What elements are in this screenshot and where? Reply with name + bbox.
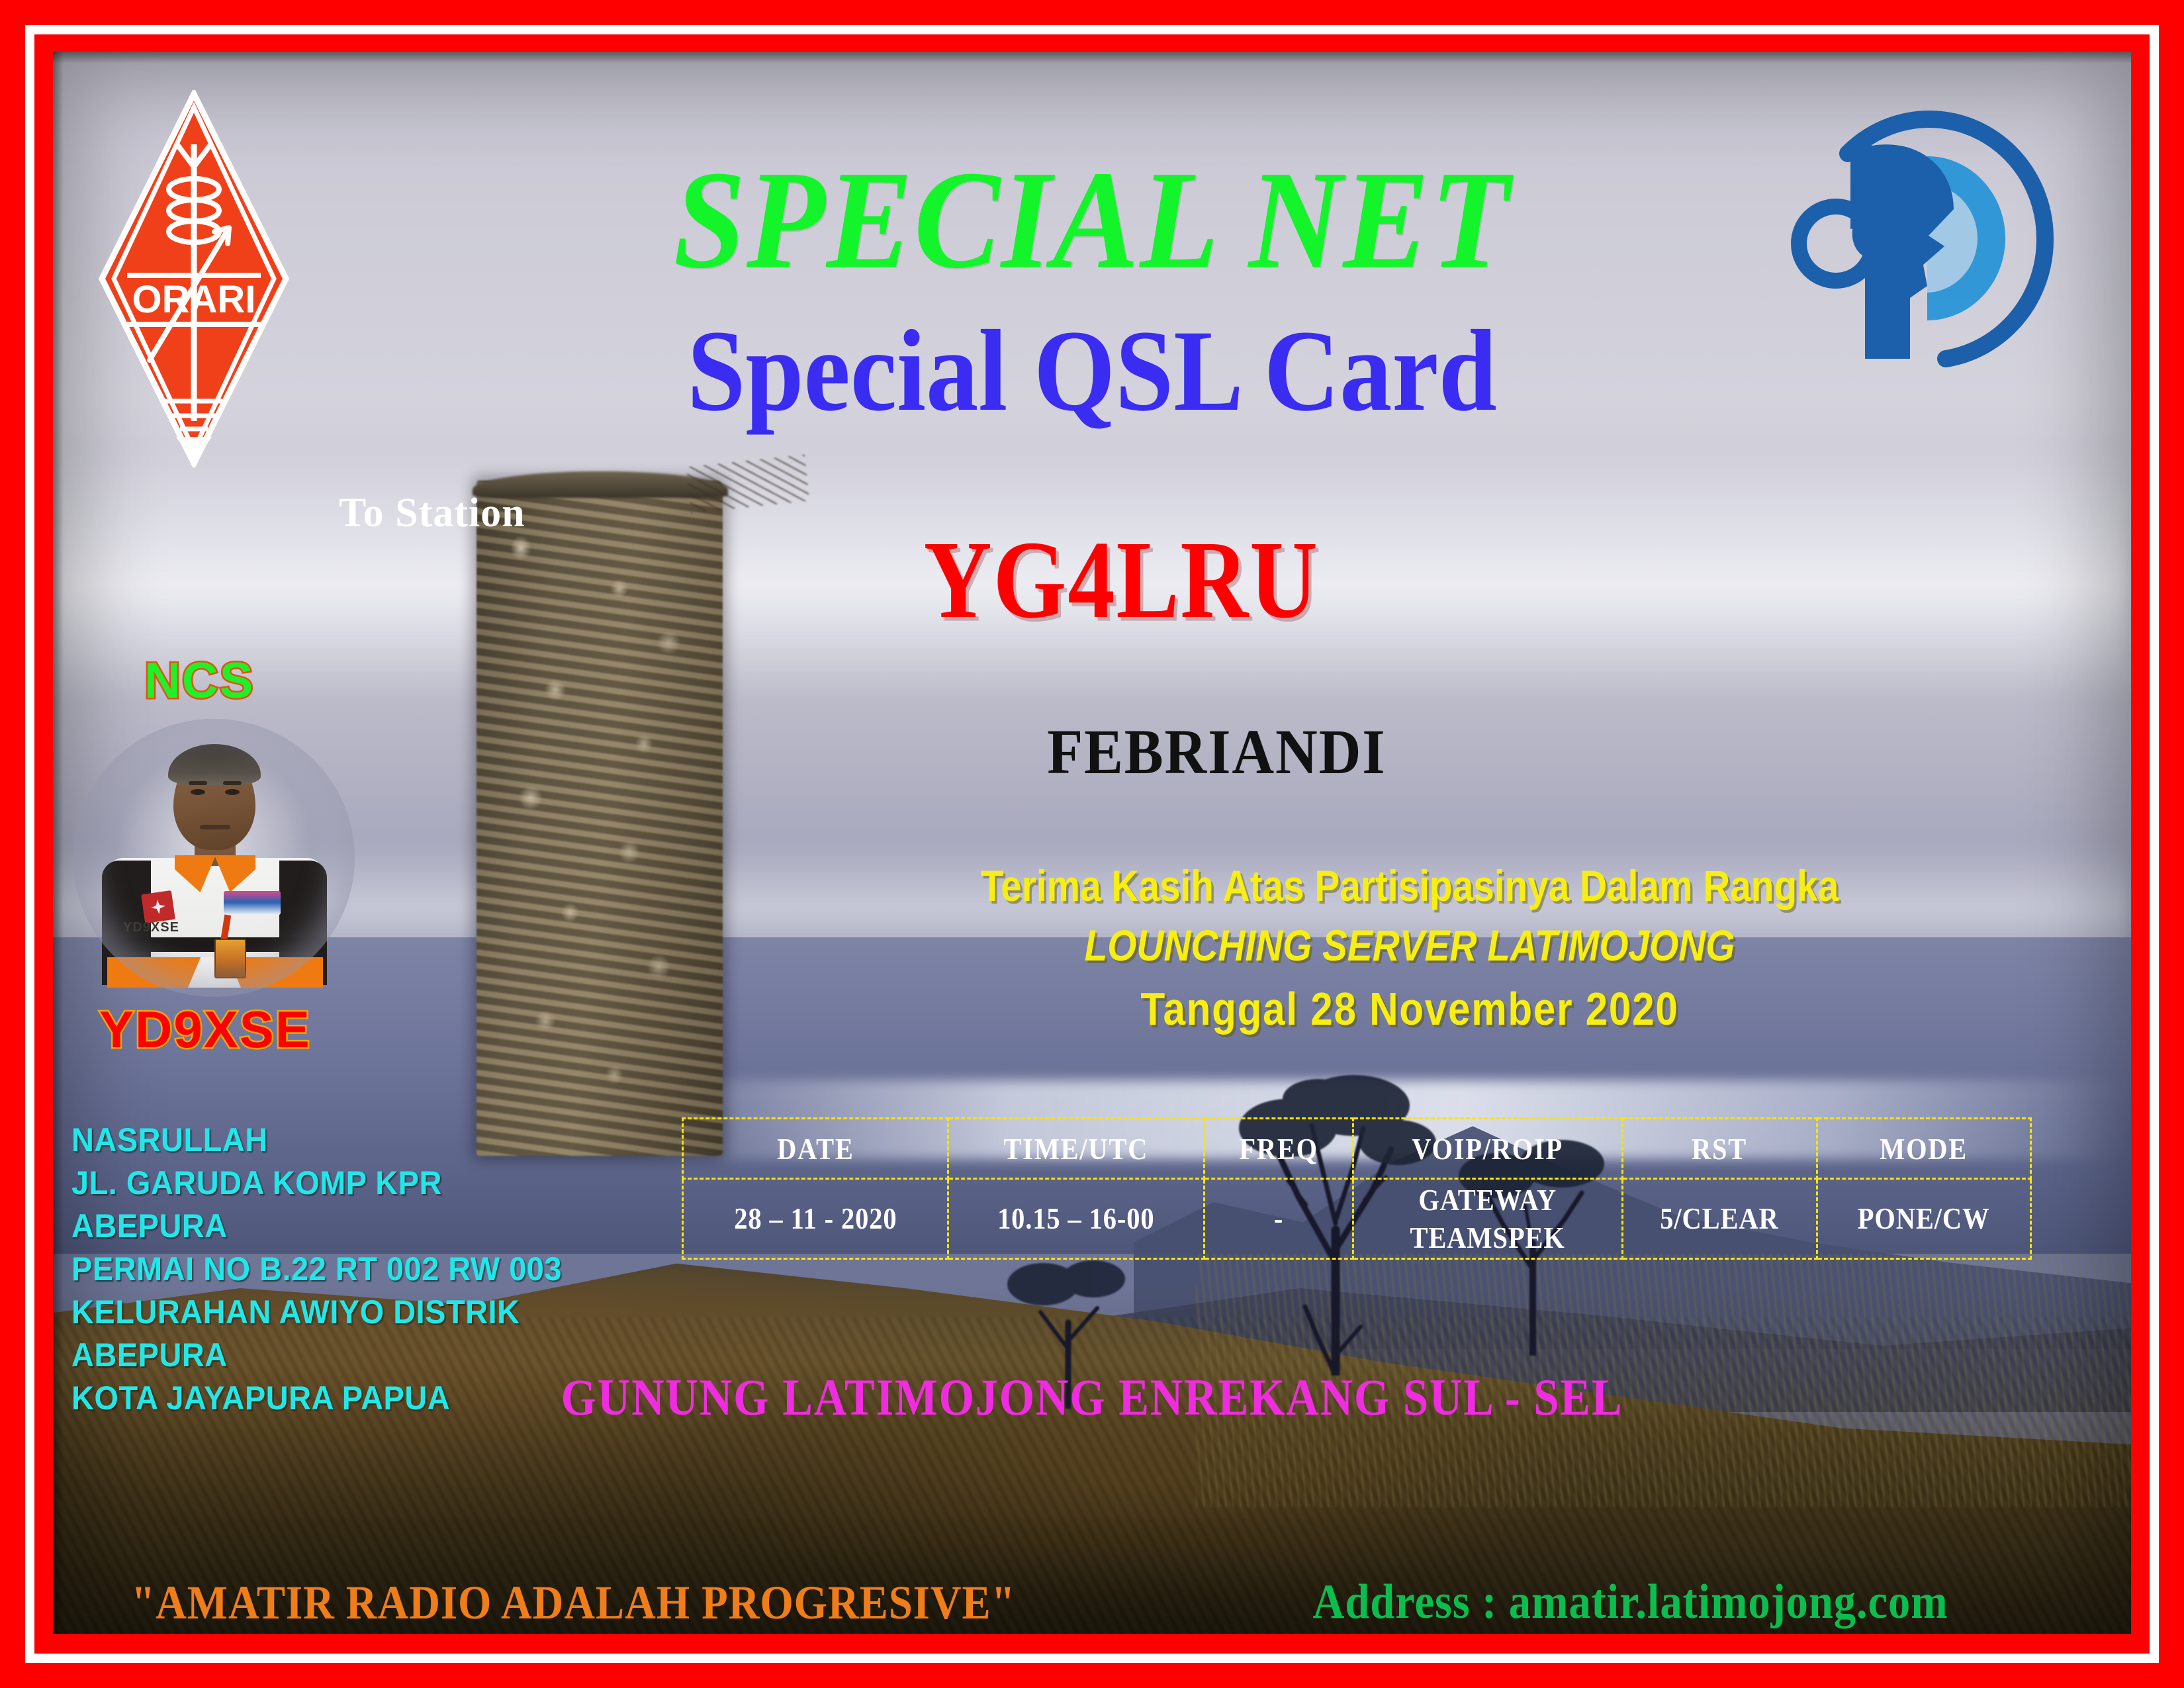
table-cell-voip-roip-line1: GATEWAY <box>1371 1181 1605 1219</box>
address-line: JL. GARUDA KOMP KPR <box>71 1162 562 1205</box>
portrait-badge-right <box>224 891 281 915</box>
ncs-label: NCS <box>144 652 254 710</box>
page-title-special-net: SPECIAL NET <box>87 139 2097 301</box>
address-line: NASRULLAH <box>71 1119 562 1162</box>
page-subtitle-qsl-card: Special QSL Card <box>109 305 2075 438</box>
table-header-rst: RST <box>1634 1119 1805 1179</box>
table-header-mode: MODE <box>1830 1119 2018 1179</box>
table-cell-mode: PONE/CW <box>1830 1179 2018 1259</box>
portrait-eye-right <box>225 789 240 795</box>
table-cell-rst: 5/CLEAR <box>1634 1179 1805 1259</box>
footer-web-address: Address : amatir.latimojong.com <box>1312 1574 1948 1630</box>
table-header-time: TIME/UTC <box>964 1119 1189 1179</box>
portrait-badge-left <box>141 890 175 923</box>
table-header-voip-roip: VOIP/ROIP <box>1369 1119 1606 1179</box>
address-line: PERMAI NO B.22 RT 002 RW 003 <box>71 1248 562 1291</box>
operator-name: FEBRIANDI <box>1047 715 1386 788</box>
table-cell-date: 28 – 11 - 2020 <box>699 1179 933 1259</box>
thanks-block: Terima Kasih Atas Partisipasinya Dalam R… <box>781 861 2038 1035</box>
table-cell-time: 10.15 – 16-00 <box>964 1179 1189 1259</box>
portrait-shirt-callsign: YD9XSE <box>123 920 179 935</box>
photo-top-shadow <box>53 52 2131 64</box>
portrait-eyebrow-left <box>189 781 207 785</box>
ncs-callsign: YD9XSE <box>99 1000 311 1060</box>
table-cell-voip-roip-line2: TEAMSPEK <box>1371 1219 1605 1257</box>
table-cell-voip-roip: GATEWAY TEAMSPEK <box>1369 1179 1606 1259</box>
recipient-callsign: YG4LRU <box>924 516 1319 644</box>
portrait-eyebrow-right <box>223 781 242 785</box>
address-line: KOTA JAYAPURA PAPUA <box>71 1377 562 1420</box>
address-line: ABEPURA <box>71 1334 562 1377</box>
table-cell-freq: - <box>1213 1179 1343 1259</box>
thanks-line-2: LOUNCHING SERVER LATIMOJONG <box>869 920 1950 970</box>
thanks-line-1: Terima Kasih Atas Partisipasinya Dalam R… <box>869 861 1950 911</box>
portrait-eye-left <box>191 789 205 795</box>
thanks-line-3: Tanggal 28 November 2020 <box>869 982 1950 1035</box>
photo-left-shadow <box>53 52 64 1634</box>
ncs-operator-photo: YD9XSE <box>82 728 345 988</box>
table-header-freq: FREQ <box>1213 1119 1343 1179</box>
portrait-id-card <box>214 939 246 978</box>
table-header-row: DATE TIME/UTC FREQ VOIP/ROIP RST MODE <box>683 1119 2031 1179</box>
table-row: 28 – 11 - 2020 10.15 – 16-00 - GATEWAY T… <box>683 1179 2031 1259</box>
footer-motto: "AMATIR RADIO ADALAH PROGRESIVE" <box>131 1575 1015 1630</box>
address-line: ABEPURA <box>71 1205 562 1248</box>
qsl-card: ORARI SPECIAL NET Special QSL Card To St… <box>0 0 2184 1688</box>
station-address-block: NASRULLAH JL. GARUDA KOMP KPR ABEPURA PE… <box>71 1119 562 1420</box>
portrait-mouth <box>200 825 230 829</box>
to-station-label: To Station <box>339 490 525 537</box>
table-header-date: DATE <box>699 1119 933 1179</box>
address-line: KELURAHAN AWIYO DISTRIK <box>71 1291 562 1334</box>
qso-log-table: DATE TIME/UTC FREQ VOIP/ROIP RST MODE 28… <box>682 1117 2032 1260</box>
